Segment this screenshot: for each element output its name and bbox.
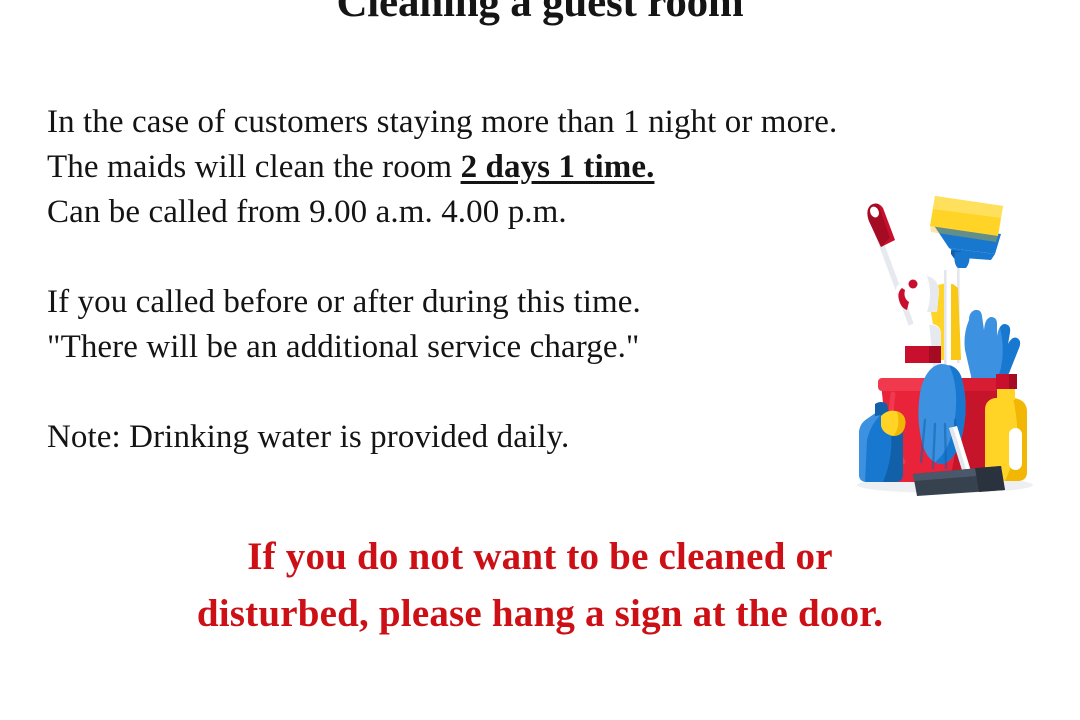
body-line-text: The maids will clean the room bbox=[47, 149, 461, 185]
page-title: Cleaning a guest room bbox=[0, 0, 1080, 27]
notice-page: Cleaning a guest room In the case of cus… bbox=[0, 0, 1080, 720]
footer-warning-line-1: If you do not want to be cleaned or bbox=[0, 528, 1080, 585]
body-line: "There will be an additional service cha… bbox=[47, 325, 847, 370]
body-line: The maids will clean the room 2 days 1 t… bbox=[47, 145, 847, 190]
body-line: In the case of customers staying more th… bbox=[47, 100, 847, 145]
emphasis-two-days-one-time: 2 days 1 time. bbox=[461, 149, 655, 185]
yellow-sponge-icon bbox=[881, 411, 905, 436]
cleaning-supplies-illustration bbox=[845, 188, 1045, 498]
body-line-note: Note: Drinking water is provided daily. bbox=[47, 415, 847, 460]
body-line: If you called before or after during thi… bbox=[47, 280, 847, 325]
paragraph-1: In the case of customers staying more th… bbox=[47, 100, 847, 235]
mop-pole-icon bbox=[944, 270, 951, 370]
body-line: Can be called from 9.00 a.m. 4.00 p.m. bbox=[47, 190, 847, 235]
paragraph-3-note: Note: Drinking water is provided daily. bbox=[47, 415, 847, 460]
footer-warning-line-2: disturbed, please hang a sign at the doo… bbox=[0, 585, 1080, 642]
notice-body: In the case of customers staying more th… bbox=[47, 100, 847, 460]
footer-warning: If you do not want to be cleaned or dist… bbox=[0, 528, 1080, 642]
paragraph-2: If you called before or after during thi… bbox=[47, 280, 847, 370]
